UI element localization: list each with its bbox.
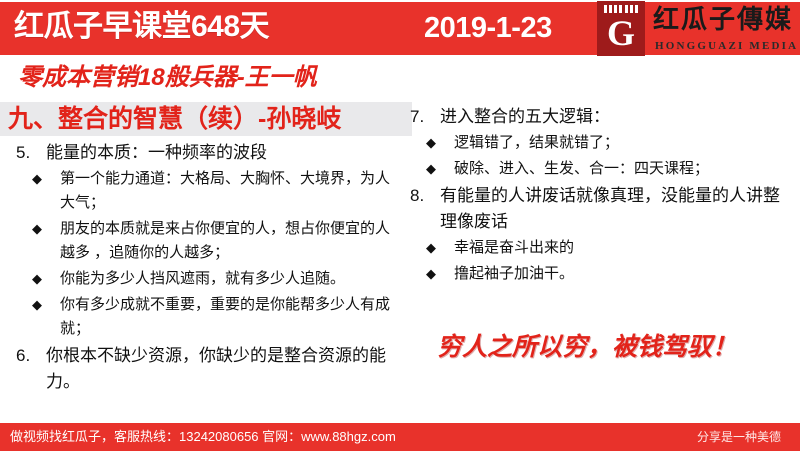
sub-bullet-text: 第一个能力通道：大格局、大胸怀、大境界，为人大气； (60, 167, 398, 215)
logo-name-cn: 红瓜子傳媒 (653, 5, 793, 35)
logo-mark-icon: G (597, 1, 645, 56)
diamond-bullet-icon: ◆ (426, 131, 454, 155)
sub-bullet: ◆ 幸福是奋斗出来的 (402, 236, 794, 260)
sub-bullet: ◆ 你能为多少人挡风遮雨，就有多少人追随。 (8, 267, 398, 291)
list-item-number: 7. (402, 104, 440, 130)
page-title: 红瓜子早课堂648天 (14, 8, 269, 46)
list-item-text: 能量的本质：一种频率的波段 (46, 140, 398, 166)
sub-bullet: ◆ 破除、进入、生发、合一：四天课程； (402, 157, 794, 181)
list-item: 5. 能量的本质：一种频率的波段 (8, 140, 398, 166)
footer-share-text: 分享是一种美德 (697, 428, 781, 447)
list-item: 8. 有能量的人讲废话就像真理，没能量的人讲整理像废话 (402, 183, 794, 235)
list-item-text: 有能量的人讲废话就像真理，没能量的人讲整理像废话 (440, 183, 794, 235)
content-column-right: 7. 进入整合的五大逻辑： ◆ 逻辑错了，结果就错了； ◆ 破除、进入、生发、合… (402, 104, 794, 288)
logo-teeth-icon (604, 5, 638, 13)
diamond-bullet-icon: ◆ (32, 293, 60, 317)
slide-canvas: 红瓜子早课堂648天 2019-1-23 G 红瓜子傳媒 HONGGUAZI M… (0, 0, 800, 451)
brand-logo: G 红瓜子傳媒 HONGGUAZI MEDIA (597, 1, 797, 57)
sub-bullet: ◆ 朋友的本质就是来占你便宜的人，想占你便宜的人越多 ，追随你的人越多； (8, 217, 398, 265)
sub-bullet: ◆ 第一个能力通道：大格局、大胸怀、大境界，为人大气； (8, 167, 398, 215)
sub-bullet-text: 破除、进入、生发、合一：四天课程； (454, 157, 794, 181)
diamond-bullet-icon: ◆ (32, 267, 60, 291)
list-item-text: 进入整合的五大逻辑： (440, 104, 794, 130)
diamond-bullet-icon: ◆ (426, 262, 454, 286)
header-date: 2019-1-23 (424, 10, 552, 46)
diamond-bullet-icon: ◆ (426, 236, 454, 260)
sub-bullet-text: 撸起袖子加油干。 (454, 262, 794, 286)
sub-bullet: ◆ 撸起袖子加油干。 (402, 262, 794, 286)
sub-bullet-text: 逻辑错了，结果就错了； (454, 131, 794, 155)
diamond-bullet-icon: ◆ (426, 157, 454, 181)
content-column-left: 5. 能量的本质：一种频率的波段 ◆ 第一个能力通道：大格局、大胸怀、大境界，为… (8, 140, 398, 396)
sub-bullet: ◆ 你有多少成就不重要，重要的是你能帮多少人有成就； (8, 293, 398, 341)
sub-bullet-text: 你能为多少人挡风遮雨，就有多少人追随。 (60, 267, 398, 291)
list-item: 6. 你根本不缺少资源，你缺少的是整合资源的能力。 (8, 343, 398, 395)
sub-bullet-text: 幸福是奋斗出来的 (454, 236, 794, 260)
highlight-slogan: 穷人之所以穷，被钱驾驭！ (437, 330, 737, 364)
list-item-number: 8. (402, 183, 440, 209)
footer-contact-text: 做视频找红瓜子，客服热线：13242080656 官网：www.88hgz.co… (10, 427, 396, 447)
list-item-text: 你根本不缺少资源，你缺少的是整合资源的能力。 (46, 343, 398, 395)
sub-bullet-text: 朋友的本质就是来占你便宜的人，想占你便宜的人越多 ，追随你的人越多； (60, 217, 398, 265)
sub-bullet-text: 你有多少成就不重要，重要的是你能帮多少人有成就； (60, 293, 398, 341)
list-item: 7. 进入整合的五大逻辑： (402, 104, 794, 130)
list-item-number: 6. (8, 343, 46, 369)
section-heading: 九、整合的智慧（续）-孙晓岐 (8, 104, 341, 135)
diamond-bullet-icon: ◆ (32, 167, 60, 191)
diamond-bullet-icon: ◆ (32, 217, 60, 241)
logo-letter: G (597, 13, 645, 56)
sub-bullet: ◆ 逻辑错了，结果就错了； (402, 131, 794, 155)
course-subtitle: 零成本营销18般兵器-王一帆 (18, 62, 317, 94)
list-item-number: 5. (8, 140, 46, 166)
logo-name-en: HONGGUAZI MEDIA (655, 39, 798, 53)
